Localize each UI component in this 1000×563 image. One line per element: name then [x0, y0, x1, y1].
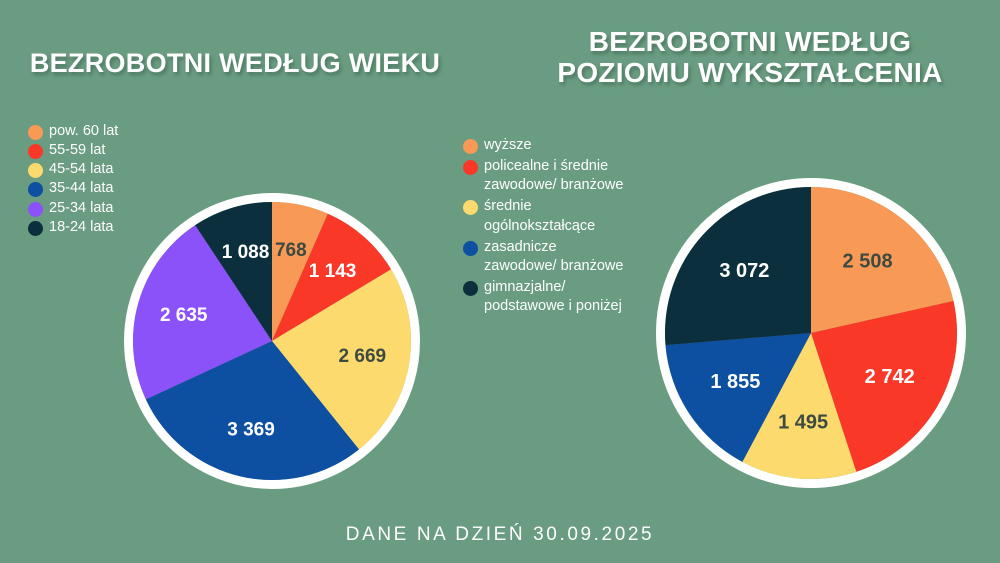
footer-date: DANE NA DZIEŃ 30.09.2025 [0, 524, 1000, 546]
legend-education-item[interactable]: gimnazjalne/ podstawowe i poniżej [463, 278, 623, 316]
legend-education-label: zasadnicze zawodowe/ branżowe [484, 238, 623, 276]
legend-swatch-icon [463, 160, 478, 175]
pie-chart-age: 7681 1432 6693 3692 6351 088 [120, 189, 424, 493]
page-title-left: BEZROBOTNI WEDŁUG WIEKU [0, 48, 470, 78]
legend-swatch-icon [463, 241, 478, 256]
legend-swatch-icon [463, 139, 478, 154]
pie-slice-value: 2 742 [865, 366, 915, 388]
legend-swatch-icon [28, 202, 43, 217]
legend-age-label: 35-44 lata [49, 179, 114, 198]
legend-education-label: policealne i średnie zawodowe/ branżowe [484, 157, 623, 195]
legend-age-item[interactable]: 18-24 lata [28, 218, 118, 237]
legend-swatch-icon [28, 221, 43, 236]
legend-age-item[interactable]: pow. 60 lat [28, 122, 118, 141]
legend-age-label: pow. 60 lat [49, 122, 118, 141]
legend-education-label: średnie ogólnokształcące [484, 197, 595, 235]
pie-chart-education: 2 5082 7421 4951 8553 072 [652, 174, 970, 492]
pie-slice-value: 1 143 [309, 261, 357, 282]
legend-swatch-icon [28, 182, 43, 197]
legend-swatch-icon [463, 281, 478, 296]
bezrobotni-wedlug-wieku-svg: 7681 1432 6693 3692 6351 088 [120, 189, 424, 493]
bezrobotni-wedlug-poziomu-wyksztalcenia-svg: 2 5082 7421 4951 8553 072 [652, 174, 970, 492]
pie-slice-value: 2 669 [339, 346, 387, 367]
page-title-right: BEZROBOTNI WEDŁUG POZIOMU WYKSZTAŁCENIA [510, 26, 990, 89]
legend-age-item[interactable]: 25-34 lata [28, 199, 118, 218]
legend-swatch-icon [28, 163, 43, 178]
pie-slice-value: 2 635 [160, 305, 208, 326]
pie-slice-value: 1 495 [778, 411, 828, 433]
legend-education-item[interactable]: policealne i średnie zawodowe/ branżowe [463, 157, 623, 195]
legend-swatch-icon [28, 125, 43, 140]
legend-age-label: 45-54 lata [49, 160, 114, 179]
legend-age-label: 18-24 lata [49, 218, 114, 237]
legend-swatch-icon [463, 200, 478, 215]
legend-swatch-icon [28, 144, 43, 159]
legend-education-label: wyższe [484, 136, 532, 155]
legend-education: wyższepolicealne i średnie zawodowe/ bra… [463, 136, 623, 318]
legend-education-item[interactable]: wyższe [463, 136, 623, 155]
legend-education-label: gimnazjalne/ podstawowe i poniżej [484, 278, 622, 316]
legend-age: pow. 60 lat55-59 lat45-54 lata35-44 lata… [28, 122, 118, 237]
legend-age-item[interactable]: 55-59 lat [28, 141, 118, 160]
pie-slice-value: 3 072 [719, 260, 769, 282]
pie-slice-value: 3 369 [227, 419, 275, 440]
legend-age-item[interactable]: 45-54 lata [28, 160, 118, 179]
legend-education-item[interactable]: zasadnicze zawodowe/ branżowe [463, 238, 623, 276]
pie-slice-value: 1 088 [222, 242, 270, 263]
infographic-canvas: BEZROBOTNI WEDŁUG WIEKU BEZROBOTNI WEDŁU… [0, 0, 1000, 563]
pie-slice-value: 768 [275, 240, 307, 261]
legend-age-label: 25-34 lata [49, 199, 114, 218]
legend-age-label: 55-59 lat [49, 141, 105, 160]
pie-slice-value: 1 855 [710, 371, 760, 393]
legend-age-item[interactable]: 35-44 lata [28, 179, 118, 198]
legend-education-item[interactable]: średnie ogólnokształcące [463, 197, 623, 235]
pie-slice-value: 2 508 [843, 251, 893, 273]
